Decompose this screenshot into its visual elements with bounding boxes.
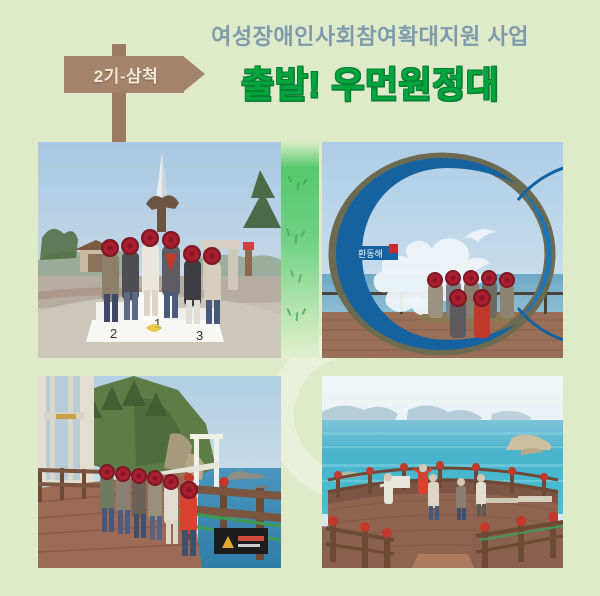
photo-blue-sculpture: 환동해 단체 사진 - (322, 142, 563, 358)
poster-canvas: 2기-삼척 여성장애인사회참여확대지원 사업 출발! 우먼원정대 (0, 0, 600, 596)
grass-texture-decoration (281, 142, 319, 358)
svg-text:3: 3 (196, 328, 203, 343)
grass-blade-icon (287, 308, 292, 316)
grass-blade-icon (286, 228, 291, 236)
grass-blade-icon (288, 176, 293, 183)
grass-blade-icon (295, 234, 298, 244)
photo-coastal-walk: 단체 사진 - 해안 데크길 산책 (38, 376, 281, 568)
photo-observation-deck: 단체 사진 - 전망 데크에서 바다 조망 (322, 376, 563, 568)
program-subtitle: 여성장애인사회참여확대지원 사업 (180, 17, 560, 53)
grass-blade-icon (298, 274, 302, 283)
grass-blade-icon (296, 312, 299, 321)
photo-podium: 2 1 3 (38, 142, 281, 358)
svg-text:2: 2 (110, 326, 117, 341)
grass-blade-icon (302, 308, 307, 315)
poster-header: 2기-삼척 여성장애인사회참여확대지원 사업 출발! 우먼원정대 (0, 0, 600, 140)
grass-blade-icon (302, 178, 307, 185)
signpost-label: 2기-삼척 (64, 56, 188, 93)
grass-blade-icon (290, 270, 294, 277)
grass-blade-icon (300, 230, 305, 237)
page-title: 출발! 우먼원정대 (180, 57, 560, 107)
svg-text:환동해: 환동해 (358, 248, 383, 259)
grass-blade-icon (296, 182, 300, 191)
